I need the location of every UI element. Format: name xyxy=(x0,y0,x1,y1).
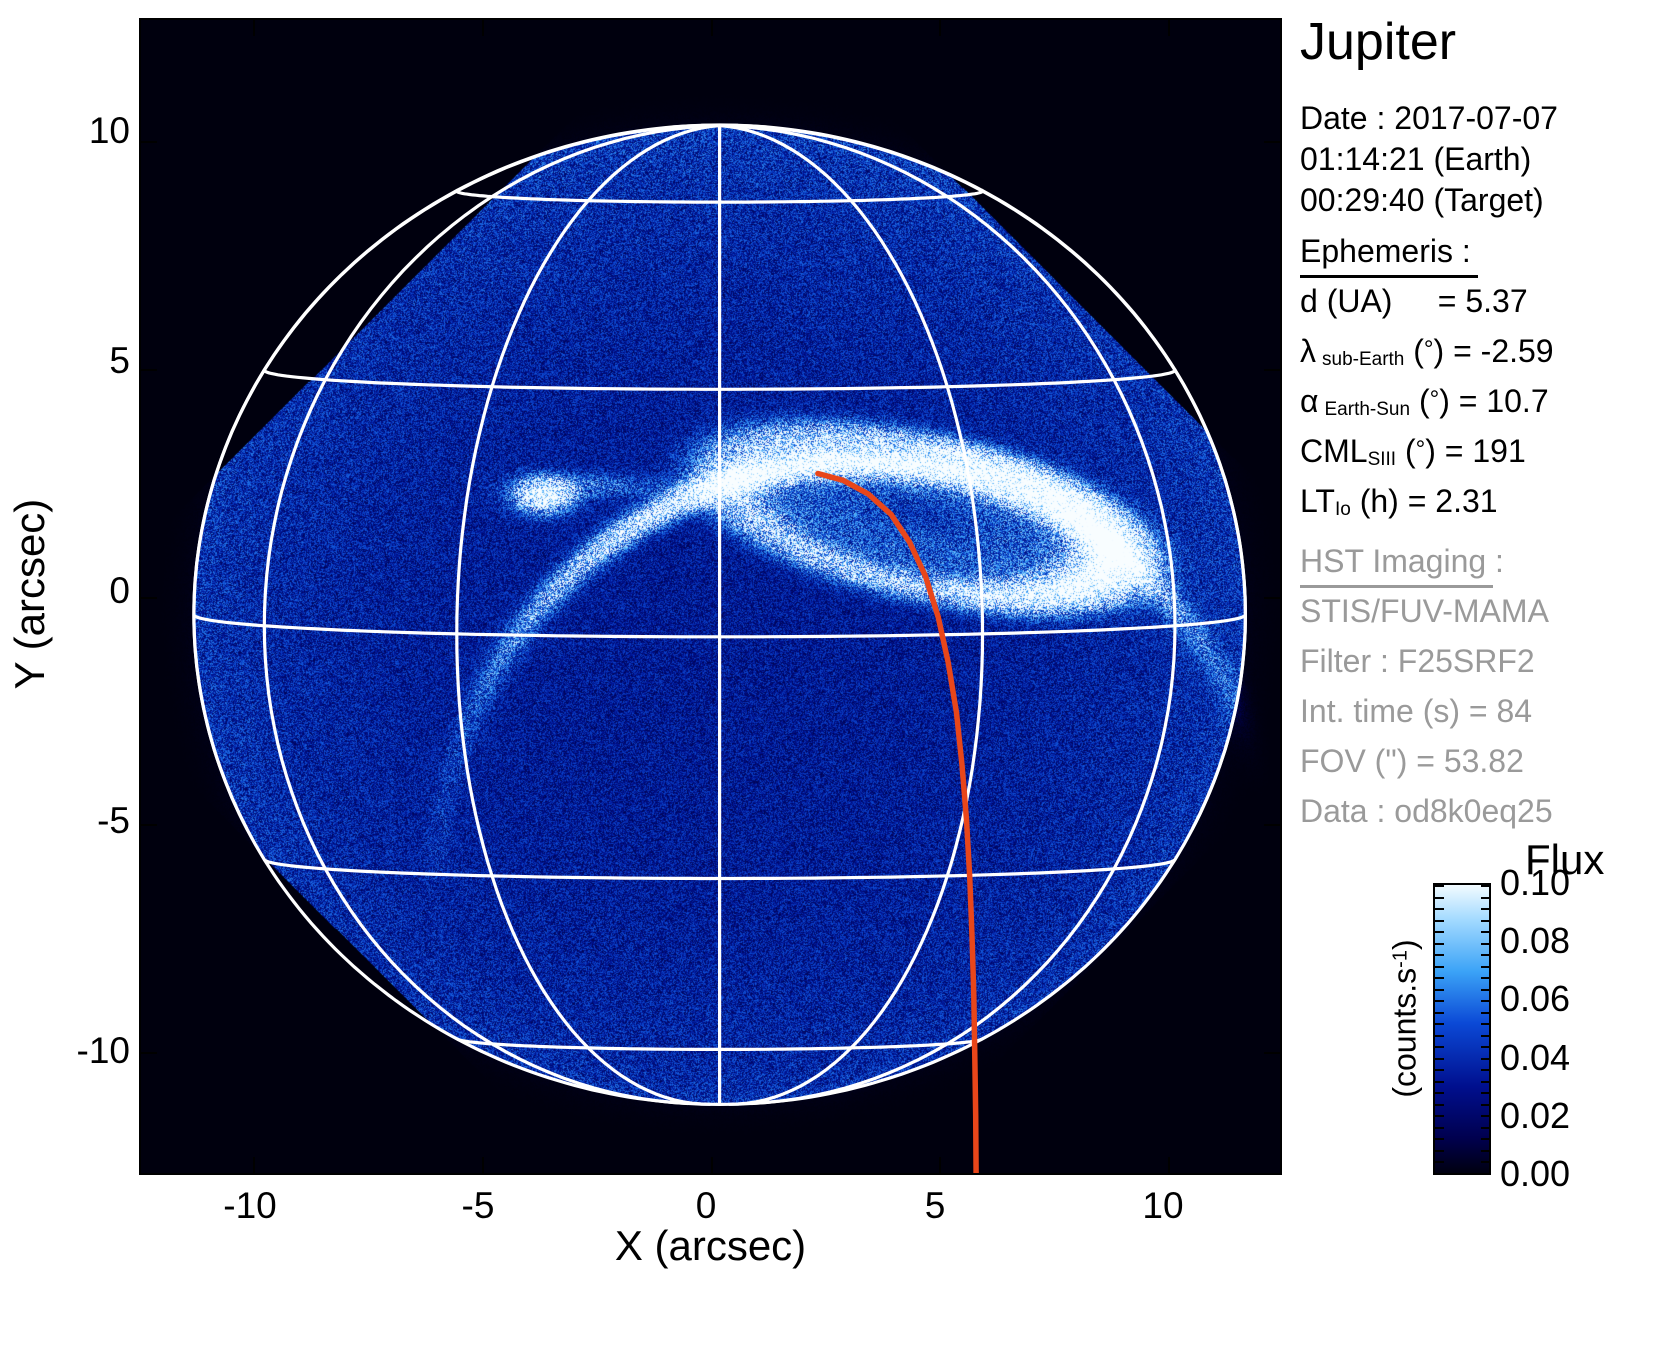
ephemeris-eq-3: = xyxy=(1445,433,1464,469)
aurora-plot-area xyxy=(139,18,1282,1175)
colorbar-minor-tick xyxy=(1435,1127,1444,1129)
axis-tick xyxy=(139,141,157,143)
axis-tick xyxy=(1168,1157,1170,1175)
colorbar-minor-tick xyxy=(1481,1046,1490,1048)
grid-line xyxy=(457,126,720,1105)
colorbar-minor-tick xyxy=(1435,1058,1444,1060)
ephemeris-unit-degree-3: (°) xyxy=(1405,433,1436,469)
hst-field-of-view: FOV (") = 53.82 xyxy=(1300,743,1524,780)
colorbar-minor-tick xyxy=(1435,1092,1444,1094)
ytick-label-5: 5 xyxy=(0,340,130,382)
axis-tick xyxy=(253,18,255,36)
ephemeris-symbol-cml: CML xyxy=(1300,433,1368,469)
axis-tick xyxy=(711,18,713,36)
colorbar-minor-tick xyxy=(1481,1161,1490,1163)
ephemeris-subscript-siii: SIII xyxy=(1368,449,1397,470)
colorbar-unit-close: ) xyxy=(1387,939,1423,950)
hst-imaging-heading: HST Imaging : xyxy=(1300,543,1504,580)
colorbar-minor-tick xyxy=(1481,897,1490,899)
ephemeris-row-phase-angle: αEarth-Sun (°) = 10.7 xyxy=(1300,383,1549,421)
axis-tick xyxy=(253,1157,255,1175)
ephemeris-heading: Ephemeris : xyxy=(1300,233,1471,270)
colorbar-minor-tick xyxy=(1481,966,1490,968)
colorbar-minor-tick xyxy=(1481,989,1490,991)
colorbar-minor-tick xyxy=(1481,954,1490,956)
colorbar-minor-tick xyxy=(1435,1069,1444,1071)
colorbar-minor-tick xyxy=(1435,1150,1444,1152)
xtick-label--10: -10 xyxy=(190,1185,310,1227)
colorbar-tick-0.10: 0.10 xyxy=(1500,862,1570,904)
ephemeris-eq-1: = xyxy=(1453,333,1472,369)
xtick-label-0: 0 xyxy=(646,1185,766,1227)
colorbar-minor-tick xyxy=(1481,1081,1490,1083)
colorbar-minor-tick xyxy=(1435,1046,1444,1048)
axis-tick xyxy=(139,824,157,826)
axis-tick xyxy=(1264,824,1282,826)
colorbar-minor-tick xyxy=(1435,1035,1444,1037)
colorbar-minor-tick xyxy=(1435,1023,1444,1025)
ephemeris-symbol-lt: LT xyxy=(1300,483,1335,519)
colorbar-minor-tick xyxy=(1435,954,1444,956)
colorbar-tick-0.08: 0.08 xyxy=(1500,920,1570,962)
axis-tick xyxy=(1264,141,1282,143)
colorbar-minor-tick xyxy=(1435,966,1444,968)
colorbar-minor-tick xyxy=(1435,1115,1444,1117)
ephemeris-unit-degree-2: (°) xyxy=(1419,383,1450,419)
ephemeris-eq-4: = xyxy=(1408,483,1427,519)
ephemeris-row-sub-earth-latitude: λsub-Earth (°) = -2.59 xyxy=(1300,333,1554,371)
target-title: Jupiter xyxy=(1300,12,1456,72)
ephemeris-subscript-sub-earth: sub-Earth xyxy=(1322,349,1404,370)
colorbar-minor-tick xyxy=(1435,977,1444,979)
colorbar-minor-tick xyxy=(1435,1104,1444,1106)
ephemeris-row-io-local-time: LTIo (h) = 2.31 xyxy=(1300,483,1498,521)
colorbar-tick-0.04: 0.04 xyxy=(1500,1037,1570,1079)
observation-time-target: 00:29:40 (Target) xyxy=(1300,182,1544,219)
colorbar-minor-tick xyxy=(1481,908,1490,910)
axis-tick xyxy=(1168,18,1170,36)
colorbar-minor-tick xyxy=(1481,1138,1490,1140)
axis-tick xyxy=(939,18,941,36)
colorbar-minor-tick xyxy=(1435,1161,1444,1163)
ytick-label--10: -10 xyxy=(0,1030,130,1072)
axis-tick xyxy=(139,597,157,599)
ephemeris-symbol-lambda: λ xyxy=(1300,333,1316,369)
colorbar-minor-tick xyxy=(1435,885,1444,887)
grid-line xyxy=(720,126,1175,1104)
ephemeris-symbol-alpha: α xyxy=(1300,383,1319,419)
colorbar-minor-tick xyxy=(1481,943,1490,945)
colorbar-unit-label: (counts.s-1) xyxy=(1387,889,1424,1149)
hst-imaging-underline xyxy=(1300,585,1493,588)
colorbar-minor-tick xyxy=(1435,1081,1444,1083)
ephemeris-subscript-io: Io xyxy=(1335,499,1351,520)
colorbar-minor-tick xyxy=(1481,1173,1490,1175)
ephemeris-eq-distance: = xyxy=(1438,283,1457,319)
ytick-label--5: -5 xyxy=(0,800,130,842)
colorbar-minor-tick xyxy=(1481,977,1490,979)
colorbar-tick-0.00: 0.00 xyxy=(1500,1153,1570,1195)
hst-filter: Filter : F25SRF2 xyxy=(1300,643,1535,680)
colorbar-minor-tick xyxy=(1481,1012,1490,1014)
axis-tick xyxy=(1264,1052,1282,1054)
colorbar-unit-exponent: -1 xyxy=(1390,950,1412,968)
colorbar-minor-tick xyxy=(1481,1035,1490,1037)
colorbar-minor-tick xyxy=(1435,943,1444,945)
colorbar-minor-tick xyxy=(1481,931,1490,933)
colorbar-minor-tick xyxy=(1481,1127,1490,1129)
hst-integration-time: Int. time (s) = 84 xyxy=(1300,693,1532,730)
flux-colorbar xyxy=(1433,883,1491,1175)
colorbar-minor-tick xyxy=(1435,920,1444,922)
colorbar-minor-tick xyxy=(1481,885,1490,887)
xtick-label-10: 10 xyxy=(1103,1185,1223,1227)
colorbar-minor-tick xyxy=(1481,1092,1490,1094)
ephemeris-value-phase-angle: 10.7 xyxy=(1486,383,1548,419)
hst-dataset-id: Data : od8k0eq25 xyxy=(1300,793,1553,830)
ephemeris-value-distance: 5.37 xyxy=(1465,283,1527,319)
xtick-label--5: -5 xyxy=(418,1185,538,1227)
axis-tick xyxy=(139,369,157,371)
colorbar-minor-tick xyxy=(1481,1150,1490,1152)
colorbar-unit-text: (counts.s xyxy=(1387,968,1423,1098)
ephemeris-row-cml: CMLSIII (°) = 191 xyxy=(1300,433,1526,471)
ephemeris-unit-hours: (h) xyxy=(1360,483,1399,519)
colorbar-minor-tick xyxy=(1481,920,1490,922)
axis-tick xyxy=(139,1052,157,1054)
axis-tick xyxy=(482,18,484,36)
axis-tick xyxy=(939,1157,941,1175)
colorbar-minor-tick xyxy=(1481,1115,1490,1117)
colorbar-minor-tick xyxy=(1481,1069,1490,1071)
colorbar-minor-tick xyxy=(1435,1138,1444,1140)
observation-date: Date : 2017-07-07 xyxy=(1300,100,1558,137)
grid-line xyxy=(720,126,983,1105)
ephemeris-value-cml: 191 xyxy=(1472,433,1525,469)
colorbar-minor-tick xyxy=(1481,1058,1490,1060)
xtick-label-5: 5 xyxy=(875,1185,995,1227)
ephemeris-subscript-earth-sun: Earth-Sun xyxy=(1325,399,1411,420)
colorbar-minor-tick xyxy=(1435,1012,1444,1014)
colorbar-minor-tick xyxy=(1435,1000,1444,1002)
colorbar-minor-tick xyxy=(1481,1104,1490,1106)
colorbar-minor-tick xyxy=(1435,897,1444,899)
axis-tick xyxy=(1264,597,1282,599)
colorbar-minor-tick xyxy=(1481,1000,1490,1002)
hst-instrument: STIS/FUV-MAMA xyxy=(1300,593,1549,630)
axis-tick xyxy=(711,1157,713,1175)
y-axis-title: Y (arcsec) xyxy=(6,394,54,794)
axis-tick xyxy=(482,1157,484,1175)
colorbar-minor-tick xyxy=(1435,931,1444,933)
x-axis-title: X (arcsec) xyxy=(0,1222,1421,1270)
colorbar-minor-tick xyxy=(1435,908,1444,910)
ephemeris-label-distance: d (UA) xyxy=(1300,283,1420,320)
colorbar-minor-tick xyxy=(1481,1023,1490,1025)
observation-time-earth: 01:14:21 (Earth) xyxy=(1300,141,1531,178)
grid-line xyxy=(264,126,719,1104)
ephemeris-value-io-local-time: 2.31 xyxy=(1435,483,1497,519)
ephemeris-eq-2: = xyxy=(1459,383,1478,419)
colorbar-minor-tick xyxy=(1435,1173,1444,1175)
axis-tick xyxy=(1264,369,1282,371)
planetographic-grid-overlay xyxy=(139,18,1282,1175)
colorbar-tick-0.06: 0.06 xyxy=(1500,978,1570,1020)
ephemeris-value-sub-earth-latitude: -2.59 xyxy=(1481,333,1554,369)
colorbar-tick-0.02: 0.02 xyxy=(1500,1095,1570,1137)
ytick-label-10: 10 xyxy=(0,110,130,152)
ephemeris-underline xyxy=(1300,275,1478,278)
colorbar-minor-tick xyxy=(1435,989,1444,991)
ephemeris-unit-degree-1: (°) xyxy=(1413,333,1444,369)
ephemeris-row-distance: d (UA) = 5.37 xyxy=(1300,283,1528,320)
